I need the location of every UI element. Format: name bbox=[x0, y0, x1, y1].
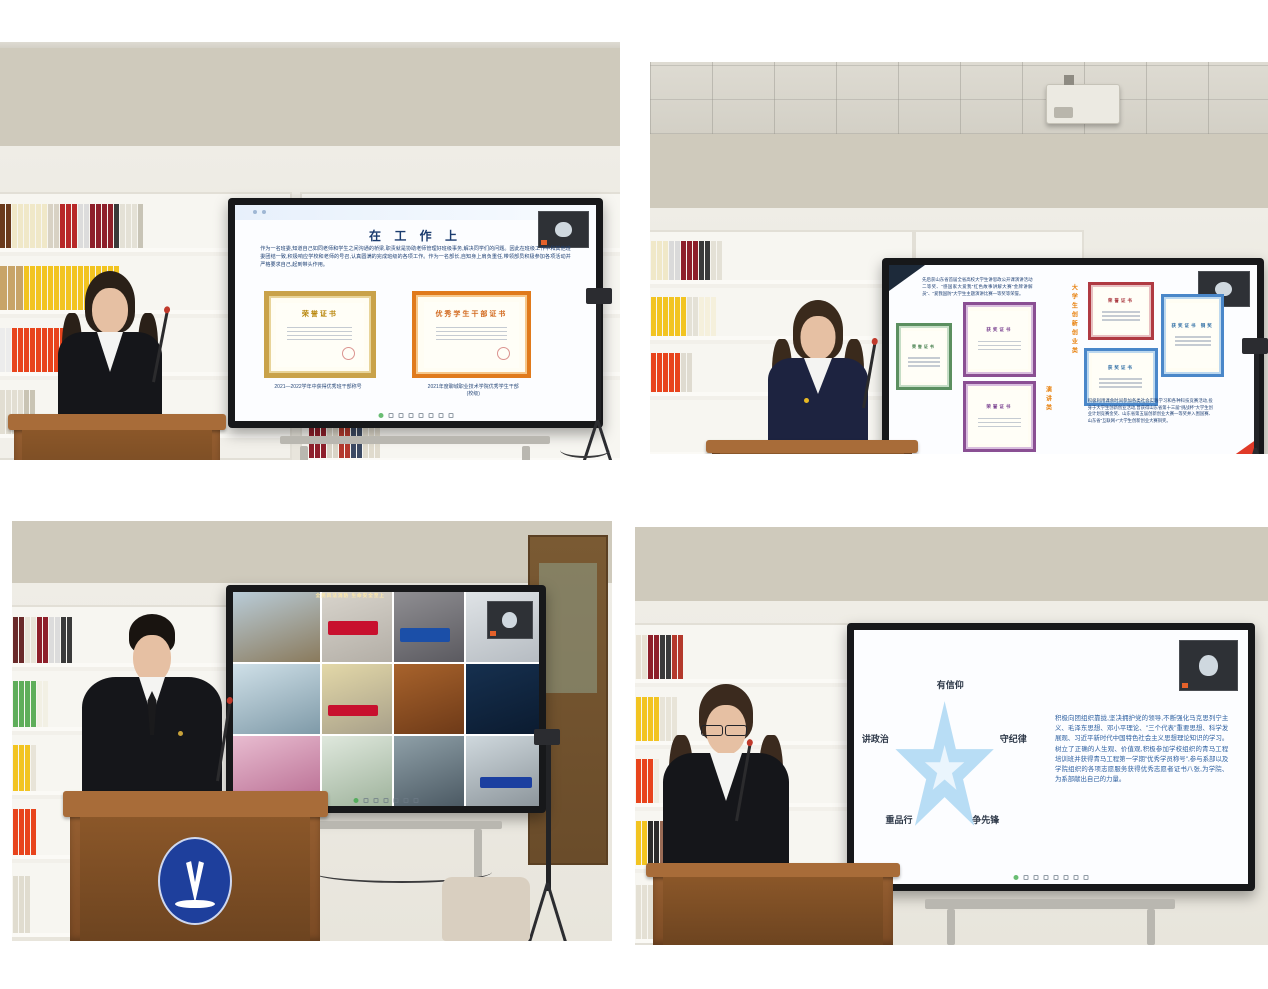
book-group bbox=[651, 297, 716, 336]
panel-stand-leg bbox=[947, 909, 955, 945]
tripod-column bbox=[596, 300, 601, 420]
interactive-flat-panel[interactable]: 先后获山东省首届全省高校大学生讲思政公开课演讲活动二等奖、"感国家大爱我"红色故… bbox=[882, 258, 1264, 454]
camera-badge-icon bbox=[1182, 683, 1188, 688]
grid-icon[interactable] bbox=[1024, 875, 1029, 880]
book-group bbox=[651, 353, 692, 392]
star-label-top: 有信仰 bbox=[937, 678, 964, 691]
torso bbox=[768, 358, 868, 448]
speaker-one bbox=[58, 280, 162, 428]
panel-stand-leg bbox=[522, 446, 530, 460]
certificate-title: 荣誉证书 bbox=[302, 309, 338, 319]
speaker-three bbox=[82, 625, 222, 805]
interactive-flat-panel[interactable]: 全民风法消防 生命安全至上 bbox=[226, 585, 546, 813]
slide-activity-collage: 全民风法消防 生命安全至上 bbox=[233, 592, 539, 806]
book-group bbox=[651, 241, 722, 280]
certificate-lines bbox=[287, 324, 352, 343]
certificate-caption: 2021—2022学年中获得优秀班干部称号 bbox=[249, 384, 386, 391]
camera-avatar-icon bbox=[502, 612, 517, 628]
certificate-lines bbox=[1099, 376, 1142, 391]
certificate-item: 获奖证书 bbox=[963, 302, 1037, 377]
activity-photo bbox=[322, 736, 392, 806]
book-group bbox=[636, 885, 653, 939]
certificate-caption: 2021年度聊城职业技术学院优秀学生干部 (校级) bbox=[401, 384, 545, 398]
ceiling-grid bbox=[650, 62, 1268, 134]
panel-screen[interactable]: 在 工 作 上 作为一名班委,知道自己如同老师和学生之间沟通的桥梁,职责就是协助… bbox=[235, 205, 596, 421]
star-label-bottom-left: 重品行 bbox=[886, 813, 913, 826]
pen-icon[interactable] bbox=[408, 413, 413, 418]
interactive-flat-panel[interactable]: 在 工 作 上 作为一名班委,知道自己如同老师和学生之间沟通的桥梁,职责就是协助… bbox=[228, 198, 603, 428]
cable bbox=[560, 442, 610, 458]
panel-screen[interactable]: 先后获山东省首届全省高校大学生讲思政公开课演讲活动二等奖、"感国家大爱我"红色故… bbox=[889, 265, 1257, 454]
cursor-icon[interactable] bbox=[398, 413, 403, 418]
banner-tag bbox=[480, 777, 531, 788]
certificate-title: 荣誉证书 bbox=[986, 404, 1012, 410]
certificate-title: 获奖证书 bbox=[986, 327, 1012, 333]
activity-photo bbox=[394, 592, 464, 662]
book-group bbox=[13, 745, 36, 791]
podium-top bbox=[8, 414, 226, 430]
panel-screen[interactable]: 全民风法消防 生命安全至上 bbox=[233, 592, 539, 806]
podium-body bbox=[80, 817, 310, 942]
pen-icon[interactable] bbox=[1044, 875, 1049, 880]
certificate-lines bbox=[978, 338, 1021, 353]
photo-speaker-one: 理 学史增信 学史崇德 学史力行 bbox=[0, 42, 620, 460]
certificate-inner: 获奖证书 bbox=[970, 311, 1028, 369]
speaker-four bbox=[663, 695, 789, 875]
cursor-icon[interactable] bbox=[374, 798, 379, 803]
activity-photo bbox=[466, 664, 539, 734]
lapel-badge-icon bbox=[178, 731, 183, 736]
slide-paragraph: 积极向团组织靠拢,坚决拥护党的领导,不断强化马克思列宁主义、毛泽东思想、邓小平理… bbox=[1055, 714, 1228, 786]
lapel-badge-icon bbox=[804, 398, 809, 403]
camera-badge-icon bbox=[490, 631, 496, 636]
podium-body bbox=[22, 430, 212, 460]
projector bbox=[1046, 84, 1120, 124]
chair bbox=[442, 877, 530, 941]
certificate-item: 荣誉证书 bbox=[1088, 282, 1154, 340]
head bbox=[801, 316, 836, 360]
certificate-inner: 荣誉证书 bbox=[970, 390, 1028, 444]
collage-header-text: 全民风法消防 生命安全至上 bbox=[316, 593, 385, 599]
school-emblem bbox=[158, 837, 232, 925]
podium-two bbox=[712, 440, 912, 454]
slide-toolbar[interactable] bbox=[1014, 875, 1089, 880]
book-group bbox=[0, 328, 65, 372]
panel-stand bbox=[925, 899, 1175, 909]
glasses-left-lens bbox=[701, 725, 723, 736]
shirt-collar bbox=[710, 753, 742, 801]
tripod-column bbox=[1254, 350, 1259, 454]
certificate-inner: 优秀学生干部证书 bbox=[424, 302, 520, 368]
activity-photo bbox=[233, 664, 320, 734]
certificate-title: 荣誉证书 bbox=[912, 344, 936, 350]
head bbox=[92, 288, 128, 334]
star-label-left: 讲政治 bbox=[862, 732, 889, 745]
slide-corner-decoration bbox=[889, 265, 925, 291]
record-icon[interactable] bbox=[1014, 875, 1019, 880]
record-icon[interactable] bbox=[378, 413, 383, 418]
certificate-inner: 荣誉证书 bbox=[903, 331, 945, 382]
podium-body bbox=[663, 877, 884, 945]
camera-body bbox=[1242, 338, 1268, 354]
photo-collage: 理 学史增信 学史崇德 学史力行 bbox=[0, 0, 1268, 989]
torso bbox=[82, 677, 222, 805]
text-icon[interactable] bbox=[1084, 875, 1089, 880]
banner-tag bbox=[328, 621, 378, 635]
slide-bottom-paragraph: 积极利用课余时间参加各类社会实践学习和各种科技竞赛活动,投身于大学生创新创业活动… bbox=[1088, 398, 1213, 425]
door-glass bbox=[539, 563, 597, 693]
vertical-label-innovation: 大学生创新创业类 bbox=[1069, 284, 1078, 367]
certificate-inner: 荣誉证书 bbox=[276, 303, 364, 367]
certificate-title: 优秀学生干部证书 bbox=[435, 309, 507, 319]
podium-one bbox=[14, 414, 220, 460]
certificate-lines bbox=[978, 415, 1021, 430]
torso bbox=[663, 753, 789, 875]
shape-icon[interactable] bbox=[394, 798, 399, 803]
camera-thumbnail bbox=[487, 601, 533, 640]
certificate-honor: 荣誉证书 bbox=[264, 291, 376, 377]
podium-top bbox=[63, 791, 328, 817]
tripod-column bbox=[546, 741, 551, 891]
slide-toolbar[interactable] bbox=[354, 798, 419, 803]
camera-body bbox=[534, 729, 560, 745]
camera-thumbnail bbox=[1179, 640, 1238, 691]
certificate-excellent-cadre: 优秀学生干部证书 bbox=[412, 291, 531, 377]
slide-awards-wall: 先后获山东省首届全省高校大学生讲思政公开课演讲活动二等奖、"感国家大爱我"红色故… bbox=[889, 265, 1257, 454]
star-label-bottom-right: 争先锋 bbox=[972, 813, 999, 826]
camera-body bbox=[586, 288, 612, 304]
slide-five-star-values: 有信仰 守纪律 争先锋 重品行 讲政治 积极向团组织靠拢,坚决拥护党的领导,不断… bbox=[854, 630, 1248, 884]
certificate-item: 荣誉证书 bbox=[896, 323, 951, 390]
certificate-inner: 获奖证书 铜奖 bbox=[1168, 303, 1217, 368]
slide-work-achievements: 在 工 作 上 作为一名班委,知道自己如同老师和学生之间沟通的桥梁,职责就是协助… bbox=[235, 205, 596, 421]
certificate-item: 荣誉证书 bbox=[963, 381, 1037, 452]
glasses-right-lens bbox=[725, 725, 747, 736]
zoom-icon[interactable] bbox=[428, 413, 433, 418]
note-icon[interactable] bbox=[414, 798, 419, 803]
panel-stand-leg bbox=[300, 446, 308, 460]
book-group bbox=[13, 617, 72, 663]
certificate-seal-icon bbox=[497, 347, 510, 360]
photo-speaker-two: 明理 学史增信 学史崇德 学史力行 bbox=[650, 62, 1268, 454]
certificate-lines bbox=[1175, 334, 1211, 349]
shelf-row bbox=[650, 232, 912, 284]
podium-top bbox=[646, 863, 900, 877]
banner-tag bbox=[400, 628, 450, 642]
podium-body bbox=[720, 453, 904, 454]
vertical-label-speech: 演讲类 bbox=[1044, 386, 1053, 440]
slide-corner-accent bbox=[1209, 439, 1257, 454]
note-icon[interactable] bbox=[438, 413, 443, 418]
grid-icon[interactable] bbox=[388, 413, 393, 418]
podium-four bbox=[653, 863, 893, 945]
head bbox=[133, 635, 171, 683]
shape-icon[interactable] bbox=[1054, 875, 1059, 880]
book-group bbox=[636, 759, 659, 803]
certificate-inner: 获奖证书 bbox=[1092, 355, 1150, 399]
interactive-flat-panel[interactable]: 有信仰 守纪律 争先锋 重品行 讲政治 积极向团组织靠拢,坚决拥护党的领导,不断… bbox=[847, 623, 1255, 891]
slide-dots bbox=[253, 210, 266, 214]
activity-photo bbox=[322, 592, 392, 662]
activity-photo bbox=[322, 664, 392, 734]
book-group bbox=[13, 681, 48, 727]
shirt-collar bbox=[804, 358, 832, 394]
camera-avatar-icon bbox=[1199, 655, 1218, 676]
activity-photo bbox=[233, 592, 320, 662]
text-icon[interactable] bbox=[448, 413, 453, 418]
slide-title: 在 工 作 上 bbox=[235, 227, 596, 244]
banner-tag bbox=[328, 705, 378, 716]
activity-photo bbox=[394, 664, 464, 734]
slide-paragraph: 作为一名班委,知道自己如同老师和学生之间沟通的桥梁,职责就是协助老师管理好班级事… bbox=[260, 246, 570, 270]
note-icon[interactable] bbox=[1074, 875, 1079, 880]
panel-screen[interactable]: 有信仰 守纪律 争先锋 重品行 讲政治 积极向团组织靠拢,坚决拥护党的领导,不断… bbox=[854, 630, 1248, 884]
photo-speaker-three: 增信 学史崇德 学史力行 bbox=[12, 521, 612, 941]
record-icon[interactable] bbox=[354, 798, 359, 803]
panel-stand-leg bbox=[1147, 909, 1155, 945]
activity-photo bbox=[466, 736, 539, 806]
book-group bbox=[13, 809, 36, 855]
certificate-item: 获奖证书 铜奖 bbox=[1161, 294, 1224, 377]
shape-icon[interactable] bbox=[418, 413, 423, 418]
zoom-icon[interactable] bbox=[1064, 875, 1069, 880]
shelf-row bbox=[635, 625, 873, 683]
ceiling bbox=[650, 62, 1268, 134]
zoom-icon[interactable] bbox=[404, 798, 409, 803]
star-label-right: 守纪律 bbox=[1000, 732, 1027, 745]
certificate-title: 获奖证书 bbox=[1108, 365, 1134, 371]
slide-top-paragraph: 先后获山东省首届全省高校大学生讲思政公开课演讲活动二等奖、"感国家大爱我"红色故… bbox=[922, 277, 1032, 297]
podium-top bbox=[706, 440, 918, 453]
photo-speaker-four: 学史增信 学史崇德 学史力行 bbox=[635, 527, 1268, 945]
certificate-lines bbox=[908, 355, 939, 370]
certificate-lines bbox=[1102, 309, 1140, 324]
shirt-collar bbox=[97, 332, 123, 372]
certificate-lines bbox=[436, 324, 507, 343]
pen-icon[interactable] bbox=[384, 798, 389, 803]
grid-icon[interactable] bbox=[364, 798, 369, 803]
certificate-title: 荣誉证书 bbox=[1108, 298, 1134, 304]
emblem-bird-icon bbox=[181, 859, 209, 903]
podium-three bbox=[70, 791, 320, 941]
slide-toolbar[interactable] bbox=[378, 413, 453, 418]
certificate-seal-icon bbox=[342, 347, 355, 360]
cursor-icon[interactable] bbox=[1034, 875, 1039, 880]
ceiling bbox=[0, 42, 620, 48]
panel-stand bbox=[280, 436, 550, 444]
certificate-inner: 荣誉证书 bbox=[1095, 289, 1147, 333]
book-group bbox=[13, 876, 30, 933]
book-group bbox=[636, 635, 683, 679]
certificate-title: 获奖证书 铜奖 bbox=[1171, 323, 1213, 329]
activity-photo bbox=[394, 736, 464, 806]
emblem-wave-icon bbox=[175, 900, 214, 908]
speaker-two bbox=[768, 308, 868, 448]
book-group bbox=[0, 204, 143, 248]
